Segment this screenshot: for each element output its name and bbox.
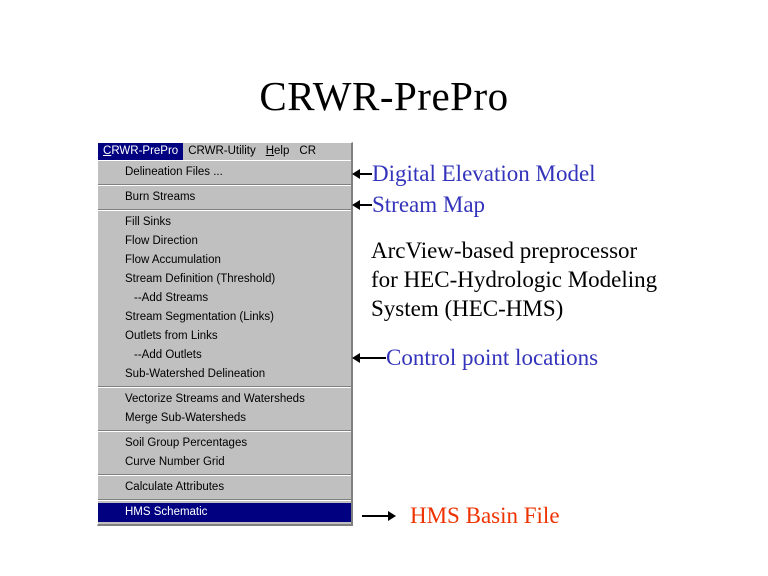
menu-separator: [98, 209, 351, 211]
menubar: CRWR-PrePro CRWR-Utility Help CR: [98, 143, 351, 160]
annotation-label: HMS Basin File: [396, 502, 560, 530]
menu-item-flow-accumulation[interactable]: Flow Accumulation: [98, 251, 351, 270]
menu-separator: [98, 184, 351, 186]
menu-item-hms-schematic[interactable]: HMS Schematic: [98, 503, 351, 522]
menu-item-soil-group-percentages[interactable]: Soil Group Percentages: [98, 434, 351, 453]
menu-item-stream-segmentation-links[interactable]: Stream Segmentation (Links): [98, 308, 351, 327]
arrow-left-icon: [352, 169, 372, 179]
menu-separator: [98, 430, 351, 432]
description-line: System (HEC-HMS): [371, 294, 657, 323]
menu-separator: [98, 499, 351, 501]
menubar-item-label: CR: [299, 145, 316, 157]
menu-item-merge-sub-watersheds[interactable]: Merge Sub-Watersheds: [98, 409, 351, 428]
description-block: ArcView-based preprocessor for HEC-Hydro…: [371, 236, 657, 323]
menubar-item-truncated[interactable]: CR: [294, 143, 321, 160]
menu-separator: [98, 386, 351, 388]
description-line: ArcView-based preprocessor: [371, 236, 657, 265]
menubar-accel-char: H: [266, 145, 274, 157]
menu-item-fill-sinks[interactable]: Fill Sinks: [98, 213, 351, 232]
menu-item-burn-streams[interactable]: Burn Streams: [98, 188, 351, 207]
menu-item-flow-direction[interactable]: Flow Direction: [98, 232, 351, 251]
menubar-item-label: CRWR-Utility: [188, 145, 256, 157]
menu-item-stream-definition-threshold[interactable]: Stream Definition (Threshold): [98, 270, 351, 289]
menu-item-add-outlets[interactable]: --Add Outlets: [98, 346, 351, 365]
arrow-left-icon: [352, 353, 386, 363]
annotation-label: Digital Elevation Model: [372, 160, 596, 188]
annotation-label: Control point locations: [386, 344, 598, 372]
menu-item-add-streams[interactable]: --Add Streams: [98, 289, 351, 308]
page-title: CRWR-PrePro: [0, 72, 768, 120]
menu-item-outlets-from-links[interactable]: Outlets from Links: [98, 327, 351, 346]
crwr-prepro-dropdown-menu: Delineation Files ...Burn StreamsFill Si…: [98, 160, 351, 524]
menu-item-delineation-files[interactable]: Delineation Files ...: [98, 163, 351, 182]
menubar-item-help[interactable]: Help: [261, 143, 295, 160]
annotation-hms-basin-file: HMS Basin File: [362, 502, 560, 530]
annotation-stream-map: Stream Map: [352, 191, 485, 219]
crwr-prepro-menu-window: CRWR-PrePro CRWR-Utility Help CR Delinea…: [97, 142, 353, 526]
menubar-item-crwr-utility[interactable]: CRWR-Utility: [183, 143, 261, 160]
menu-item-vectorize-streams-and-watersheds[interactable]: Vectorize Streams and Watersheds: [98, 390, 351, 409]
description-line: for HEC-Hydrologic Modeling: [371, 265, 657, 294]
menubar-item-label: elp: [274, 145, 289, 157]
menu-item-calculate-attributes[interactable]: Calculate Attributes: [98, 478, 351, 497]
annotation-label: Stream Map: [372, 191, 485, 219]
menu-separator: [98, 474, 351, 476]
arrow-left-icon: [352, 200, 372, 210]
menubar-item-label: RWR-PrePro: [111, 145, 178, 157]
menubar-item-crwr-prepro[interactable]: CRWR-PrePro: [98, 143, 183, 160]
annotation-digital-elevation-model: Digital Elevation Model: [352, 160, 596, 188]
annotation-control-point-locations: Control point locations: [352, 344, 598, 372]
menu-item-curve-number-grid[interactable]: Curve Number Grid: [98, 453, 351, 472]
arrow-right-icon: [362, 511, 396, 521]
menu-item-sub-watershed-delineation[interactable]: Sub-Watershed Delineation: [98, 365, 351, 384]
